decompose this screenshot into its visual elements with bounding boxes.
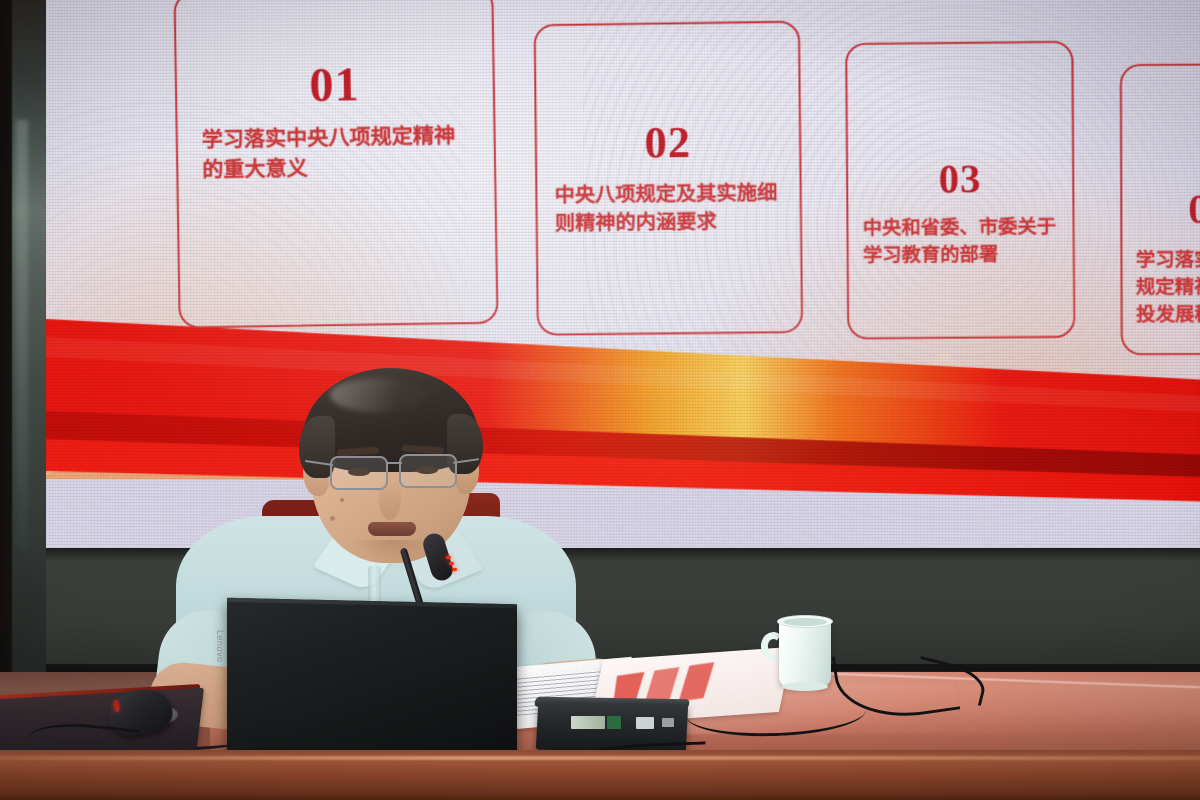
coffee-mug — [779, 619, 831, 687]
eyeglasses-bridge — [386, 462, 402, 464]
microphone-indicator-led-1 — [446, 556, 451, 559]
mug-interior — [783, 618, 827, 626]
microphone-talk-button[interactable] — [636, 717, 654, 729]
eyeglasses-lens-right — [399, 454, 457, 488]
laptop-lid — [227, 598, 517, 765]
microphone-indicator-led-2 — [449, 562, 454, 565]
laptop-brand-logo: Lenovo — [215, 630, 225, 663]
microphone-base-label — [571, 716, 605, 729]
hair-highlight — [330, 378, 426, 412]
eyeglasses-lens-left — [330, 456, 388, 490]
microphone-base-badge — [607, 716, 621, 729]
chin-shadow — [352, 540, 432, 560]
conference-room-photo: contents 01 学习落实中央八项规定精神的重大意义 02 中央八项规定及… — [0, 0, 1200, 800]
facial-mark-upper — [340, 498, 344, 502]
mouth — [368, 522, 416, 536]
desk-front-trim — [0, 756, 1200, 760]
microphone-secondary-button[interactable] — [662, 718, 674, 727]
nose — [379, 478, 401, 520]
microphone-indicator-led-3 — [452, 568, 457, 571]
facial-mark-lower — [330, 516, 335, 521]
